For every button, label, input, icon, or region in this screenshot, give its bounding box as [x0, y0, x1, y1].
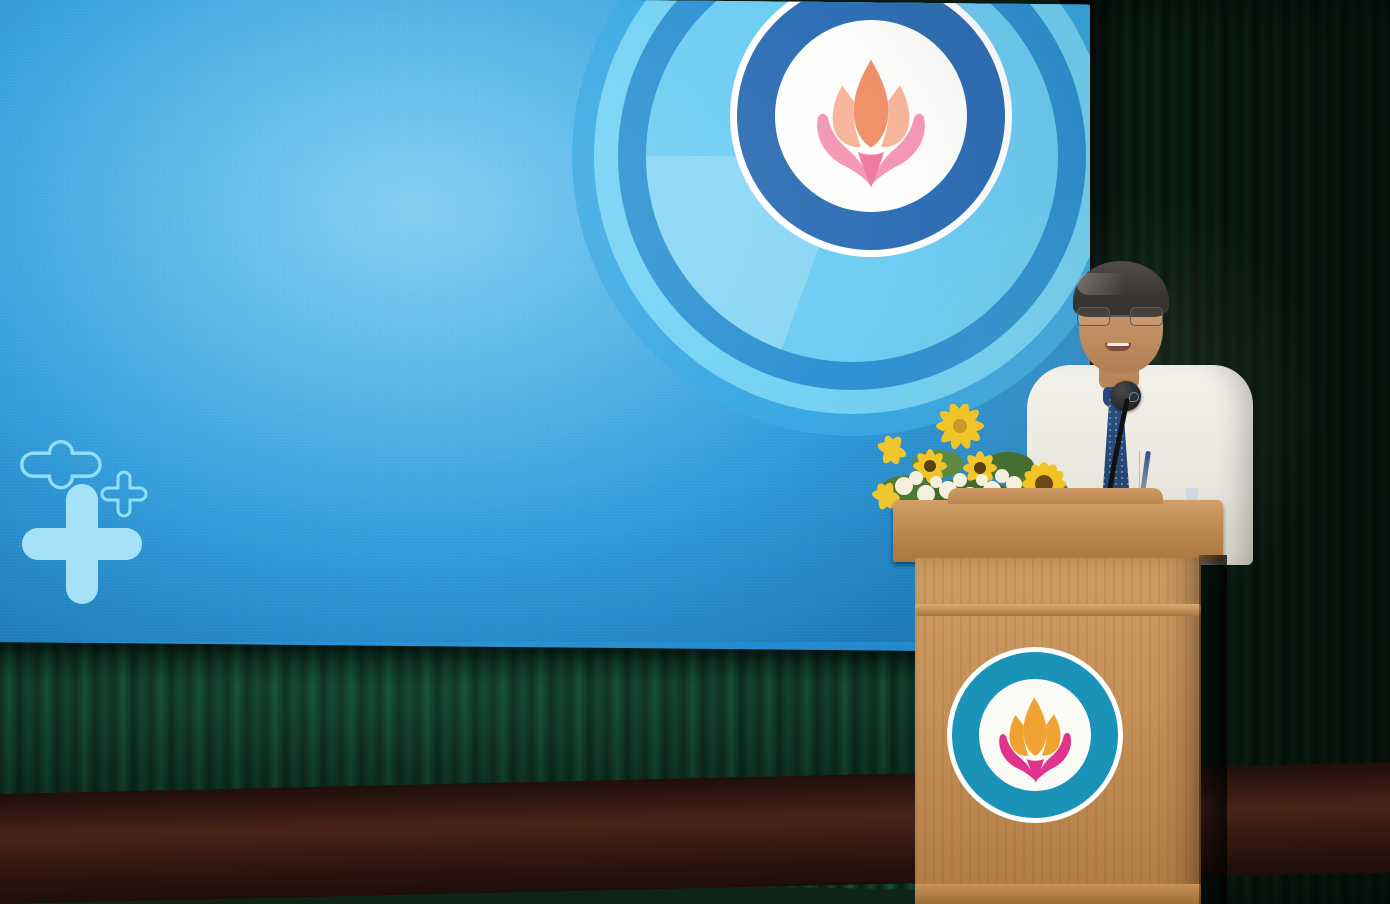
lectern-shadow [1199, 555, 1227, 904]
lotus-in-hands-icon [984, 691, 1086, 787]
event-photo-scene [0, 0, 1390, 904]
lectern-base [915, 884, 1201, 904]
hospital-emblem-podium [951, 651, 1120, 820]
medical-cross-outline-small [102, 472, 146, 516]
slide-title-block [20, 20, 720, 42]
lectern-molding [915, 604, 1201, 616]
medical-cross-solid [22, 484, 142, 604]
sunflower-top [936, 404, 984, 451]
eyeglasses-icon [1077, 307, 1165, 327]
presenter-mouth [1105, 343, 1131, 351]
lectern-top [893, 500, 1223, 562]
medical-cross-group [14, 410, 194, 610]
medical-cross-outline-large [22, 442, 100, 488]
